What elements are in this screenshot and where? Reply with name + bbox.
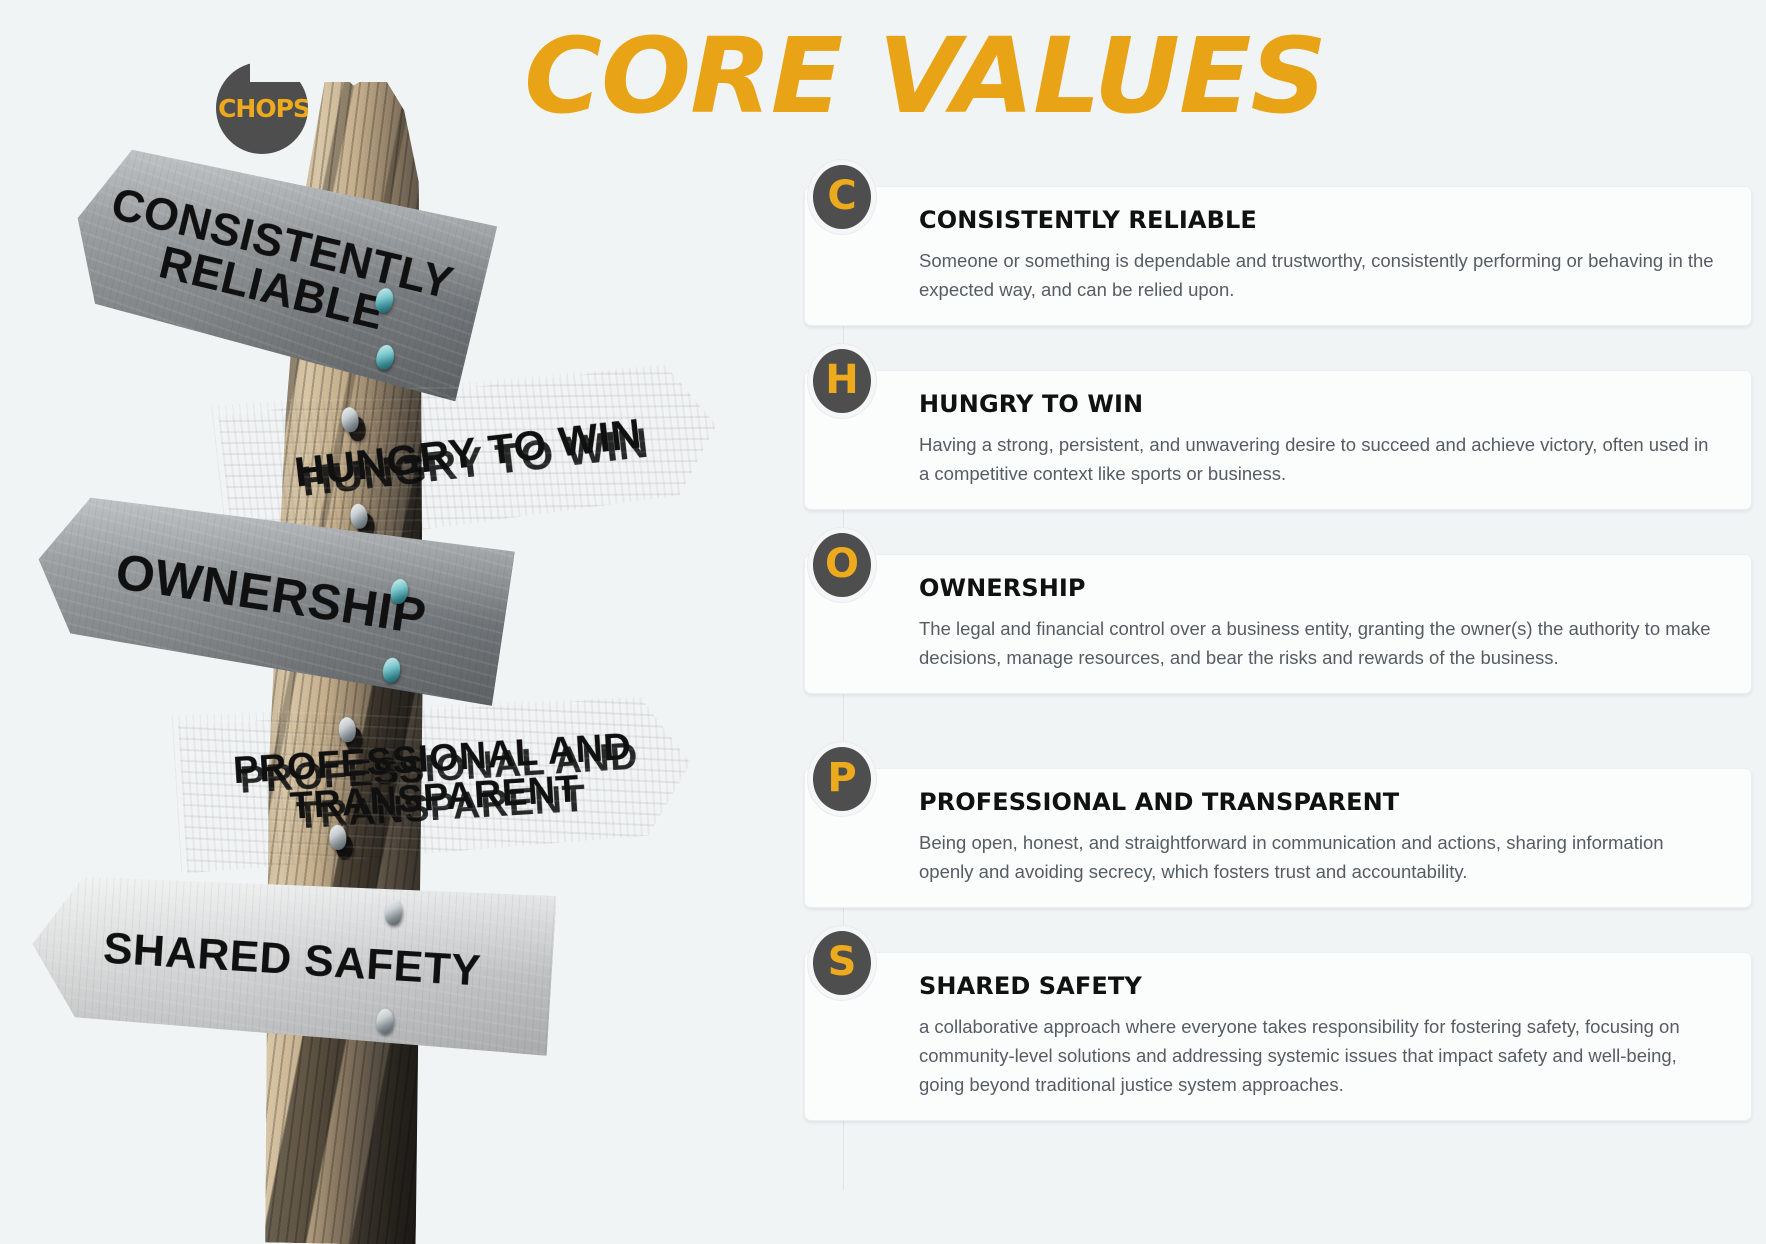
signboard-professional-and-transparent: PROFESSIONAL AND TRANSPARENT xyxy=(172,684,696,873)
signboard-label: HUNGRY TO WIN xyxy=(282,411,653,495)
screw-icon xyxy=(381,657,402,684)
value-card[interactable]: CONSISTENTLY RELIABLE Someone or somethi… xyxy=(804,186,1752,326)
value-description: a collaborative approach where everyone … xyxy=(919,1012,1723,1099)
signboard-label: CONSISTENTLY RELIABLE xyxy=(67,174,487,359)
value-badge-p: P xyxy=(808,742,876,816)
value-title: OWNERSHIP xyxy=(919,574,1723,602)
signboard-label: OWNERSHIP xyxy=(103,544,440,644)
value-badge-letter: S xyxy=(828,942,857,982)
post-top-mask xyxy=(250,62,450,82)
value-description: Being open, honest, and straightforward … xyxy=(919,828,1723,886)
signboard-label: SHARED SAFETY xyxy=(92,925,492,994)
screw-icon xyxy=(338,717,356,743)
signboard-consistently-reliable: CONSISTENTLY RELIABLE xyxy=(57,131,498,402)
value-title: SHARED SAFETY xyxy=(919,972,1723,1000)
screw-icon xyxy=(340,406,360,433)
value-badge-letter: O xyxy=(825,544,859,584)
screw-icon xyxy=(384,900,402,926)
value-title: CONSISTENTLY RELIABLE xyxy=(919,206,1723,234)
value-badge-c: C xyxy=(808,160,876,234)
value-title: PROFESSIONAL AND TRANSPARENT xyxy=(919,788,1723,816)
value-badge-letter: C xyxy=(827,176,856,216)
value-description: Someone or something is dependable and t… xyxy=(919,246,1723,304)
value-title: HUNGRY TO WIN xyxy=(919,390,1723,418)
value-badge-letter: P xyxy=(827,758,856,798)
signboard-shared-safety: SHARED SAFETY xyxy=(28,864,557,1055)
value-card[interactable]: PROFESSIONAL AND TRANSPARENT Being open,… xyxy=(804,768,1752,908)
screw-icon xyxy=(329,824,347,850)
signpost-illustration: CONSISTENTLY RELIABLE HUNGRY TO WIN OWNE… xyxy=(0,0,790,1244)
value-card[interactable]: SHARED SAFETY a collaborative approach w… xyxy=(804,952,1752,1121)
value-badge-h: H xyxy=(808,344,876,418)
screw-icon xyxy=(374,343,396,371)
core-values-infographic: CHOPS CORE VALUES CONSISTENTLY RELIABLE … xyxy=(0,0,1766,1244)
value-badge-o: O xyxy=(808,528,876,602)
values-list: CONSISTENTLY RELIABLE Someone or somethi… xyxy=(790,160,1766,1244)
value-description: The legal and financial control over a b… xyxy=(919,614,1723,672)
value-badge-s: S xyxy=(808,926,876,1000)
value-card[interactable]: OWNERSHIP The legal and financial contro… xyxy=(804,554,1752,694)
value-description: Having a strong, persistent, and unwaver… xyxy=(919,430,1723,488)
screw-icon xyxy=(349,503,369,530)
signboard-label: PROFESSIONAL AND TRANSPARENT xyxy=(174,725,693,834)
screw-icon xyxy=(376,1008,394,1034)
value-badge-letter: H xyxy=(825,360,858,400)
value-card[interactable]: HUNGRY TO WIN Having a strong, persisten… xyxy=(804,370,1752,510)
